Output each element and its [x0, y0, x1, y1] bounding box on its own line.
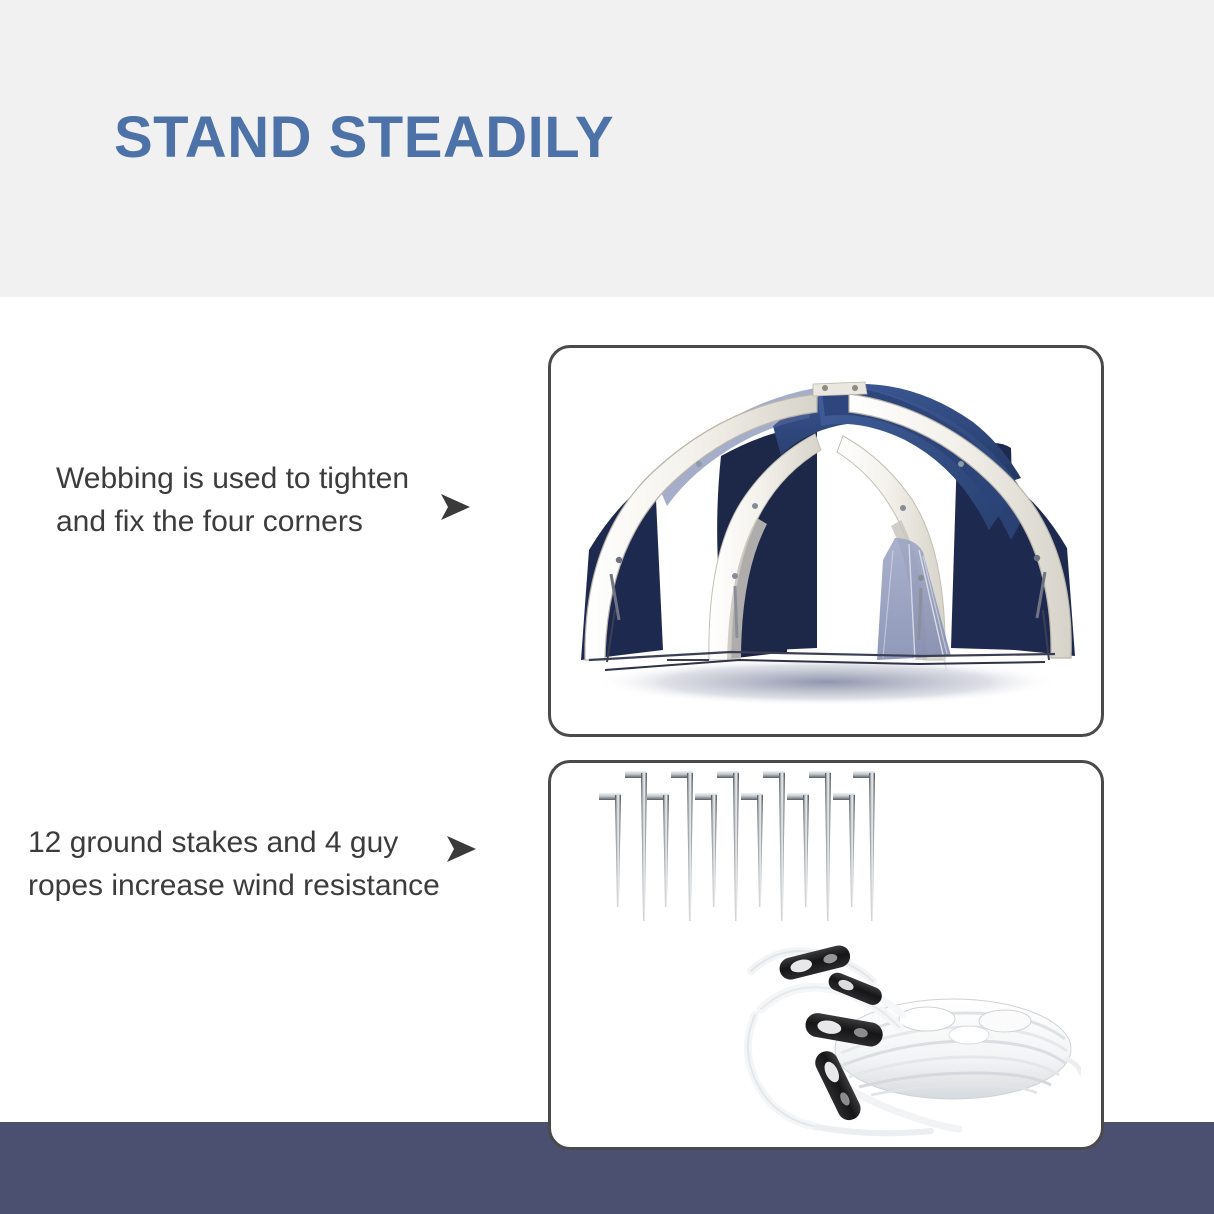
arrow-right-icon — [443, 832, 479, 866]
feature-caption-stakes-line1: 12 ground stakes and 4 guy — [28, 822, 458, 865]
feature-caption-webbing-line2: and fix the four corners — [56, 501, 451, 544]
guy-ropes-illustration — [731, 923, 1081, 1138]
infographic-page: STAND STEADILY Webbing is used to tighte… — [0, 0, 1214, 1214]
product-image-card-hardware — [548, 760, 1104, 1150]
arrow-right-icon — [437, 490, 473, 524]
dome-canopy-tent-illustration — [559, 360, 1099, 730]
feature-caption-stakes-line2: ropes increase wind resistance — [28, 865, 458, 908]
page-title: STAND STEADILY — [114, 108, 614, 169]
feature-caption-webbing: Webbing is used to tighten and fix the f… — [56, 458, 451, 543]
ground-stakes-illustration — [595, 767, 895, 947]
product-image-card-tent — [548, 345, 1104, 737]
feature-caption-stakes: 12 ground stakes and 4 guy ropes increas… — [28, 822, 458, 907]
feature-caption-webbing-line1: Webbing is used to tighten — [56, 458, 451, 501]
